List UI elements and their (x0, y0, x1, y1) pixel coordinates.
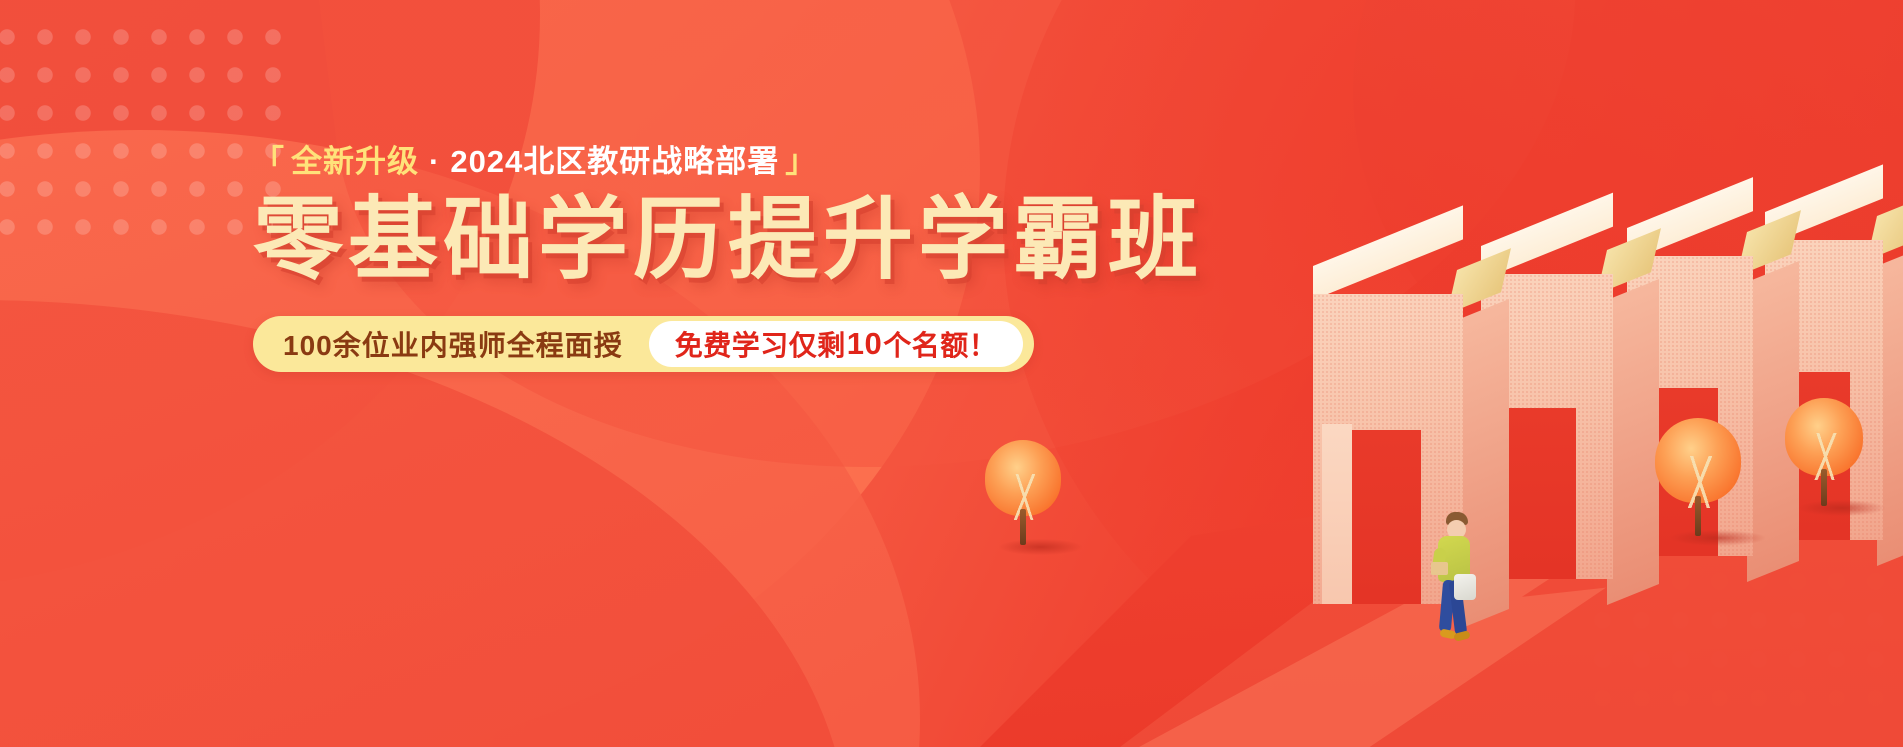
autumn-tree-left (985, 440, 1061, 545)
tree-trunk (1821, 469, 1827, 506)
banner-main-title: 零基础学历提升学霸班 (253, 193, 1073, 288)
open-bracket-mark: 「 (253, 145, 285, 179)
book-arch-side (1607, 279, 1659, 605)
tree-trunk (1020, 509, 1026, 545)
carried-book (1431, 562, 1448, 575)
autumn-tree-mid (1655, 418, 1741, 536)
banner-text-block: 「 全新升级 · 2024北区教研战略部署 」 零基础学历提升学霸班 100余位… (253, 145, 1073, 372)
autumn-tree-right (1785, 398, 1863, 506)
subtitle-separator-dot: · (425, 145, 444, 179)
promo-banner: 「 全新升级 · 2024北区教研战略部署 」 零基础学历提升学霸班 100余位… (0, 0, 1903, 747)
tree-shadow (999, 539, 1083, 555)
badge-seats-suffix: 个名额！ (883, 324, 997, 364)
book-arch-inner-wall (1322, 424, 1352, 604)
subtitle-highlight: 全新升级 (291, 145, 419, 179)
badge-seats-remaining[interactable]: 免费学习仅剩 10 个名额！ (649, 321, 1024, 367)
book-arch-opening (1499, 408, 1576, 579)
badge-teachers-label: 100余位业内强师全程面授 (253, 316, 649, 372)
badge-seats-number: 10 (846, 326, 883, 362)
close-bracket-mark: 」 (785, 145, 817, 179)
badge-container: 100余位业内强师全程面授 免费学习仅剩 10 个名额！ (253, 316, 1034, 372)
banner-badge-row: 100余位业内强师全程面授 免费学习仅剩 10 个名额！ (253, 316, 1073, 372)
student-with-bag-figure (1430, 512, 1476, 647)
tree-shadow (1670, 530, 1765, 546)
dot-pattern-top-left (0, 18, 288, 238)
badge-seats-prefix: 免费学习仅剩 (675, 324, 846, 364)
banner-subtitle: 「 全新升级 · 2024北区教研战略部署 」 (253, 145, 1073, 179)
shoulder-bag (1454, 574, 1476, 600)
tree-trunk (1695, 496, 1702, 536)
subtitle-rest: 2024北区教研战略部署 (450, 145, 779, 179)
tree-shadow (1799, 500, 1885, 516)
